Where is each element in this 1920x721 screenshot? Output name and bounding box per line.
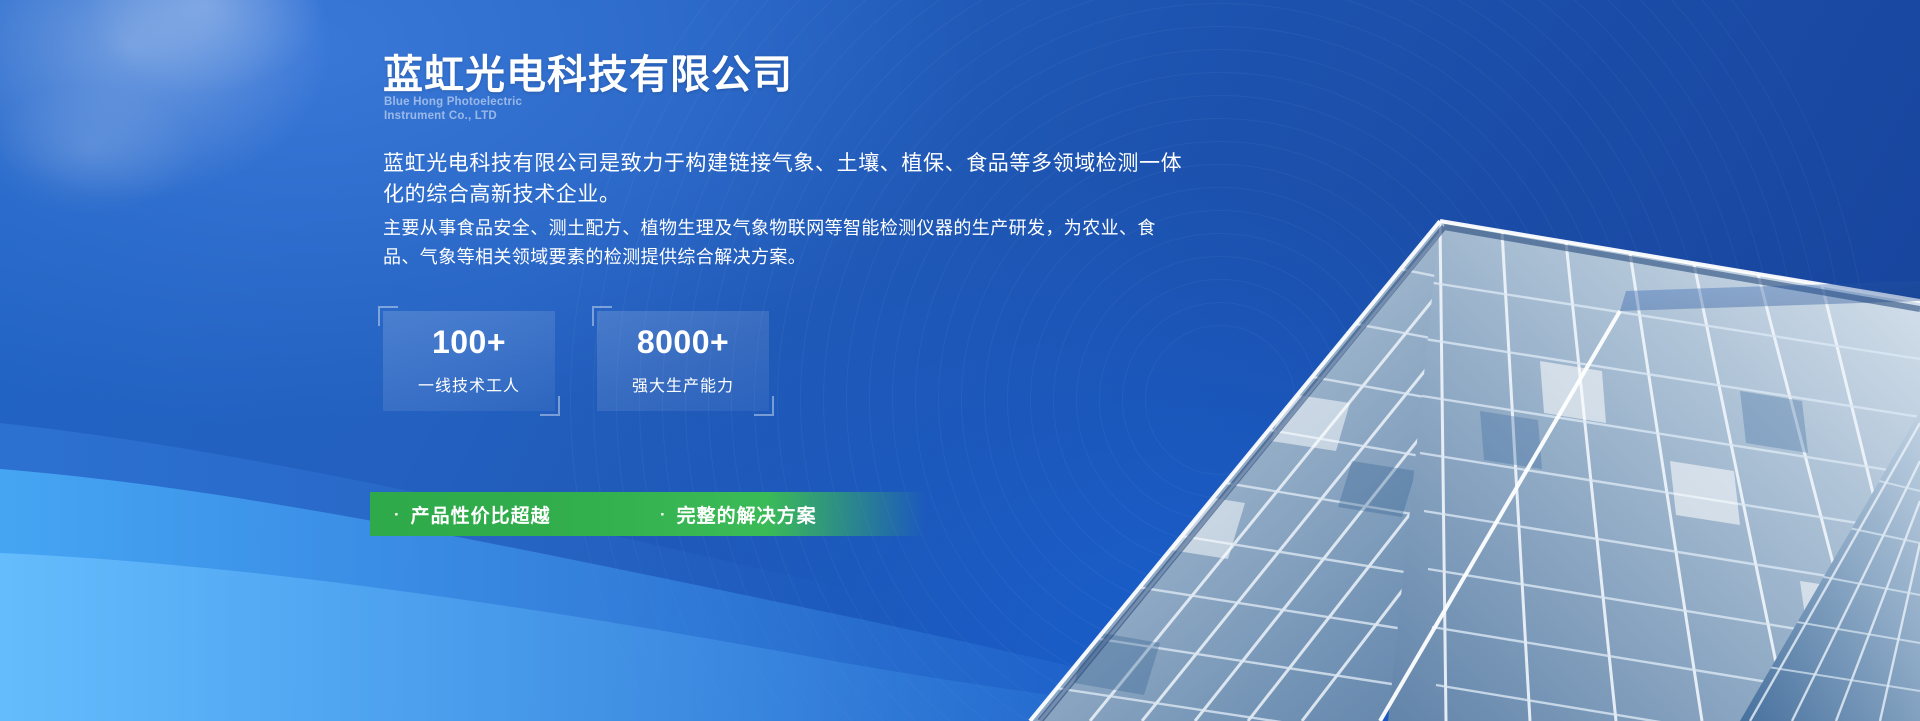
cloud-glow-icon	[40, 0, 370, 130]
stat-value: 8000+	[637, 326, 729, 358]
cloud-glow-icon	[0, 60, 240, 240]
feature-tag[interactable]: · 完整的解决方案	[636, 492, 926, 536]
stats-group: 100+ 一线技术工人 8000+ 强大生产能力	[383, 311, 769, 411]
feature-tag[interactable]: · 产品性价比超越	[370, 492, 642, 536]
bullet-icon: ·	[394, 506, 401, 523]
page-title: 蓝虹光电科技有限公司	[383, 42, 793, 100]
stat-label: 一线技术工人	[418, 372, 520, 396]
feature-tags-group: · 产品性价比超越 · 完整的解决方案	[370, 492, 926, 536]
stat-card: 100+ 一线技术工人	[383, 311, 555, 411]
stat-value: 100+	[432, 326, 506, 358]
english-name-line-1: Blue Hong Photoelectric	[384, 95, 522, 109]
cloud-glow-icon	[0, 0, 410, 260]
company-english-name: Blue Hong Photoelectric Instrument Co., …	[384, 95, 522, 123]
intro-paragraph-2: 主要从事食品安全、测土配方、植物生理及气象物联网等智能检测仪器的生产研发，为农业…	[383, 214, 1188, 272]
stat-label: 强大生产能力	[632, 372, 734, 396]
hero-content: 蓝虹光电科技有限公司 Blue Hong Photoelectric Instr…	[383, 0, 1523, 721]
feature-tag-label: 完整的解决方案	[677, 501, 817, 528]
intro-paragraph-1: 蓝虹光电科技有限公司是致力于构建链接气象、土壤、植保、食品等多领域检测一体化的综…	[383, 148, 1188, 210]
feature-tag-label: 产品性价比超越	[411, 501, 551, 528]
hero-banner: 蓝虹光电科技有限公司 Blue Hong Photoelectric Instr…	[0, 0, 1920, 721]
bullet-icon: ·	[660, 506, 667, 523]
stat-card: 8000+ 强大生产能力	[597, 311, 769, 411]
english-name-line-2: Instrument Co., LTD	[384, 109, 522, 123]
